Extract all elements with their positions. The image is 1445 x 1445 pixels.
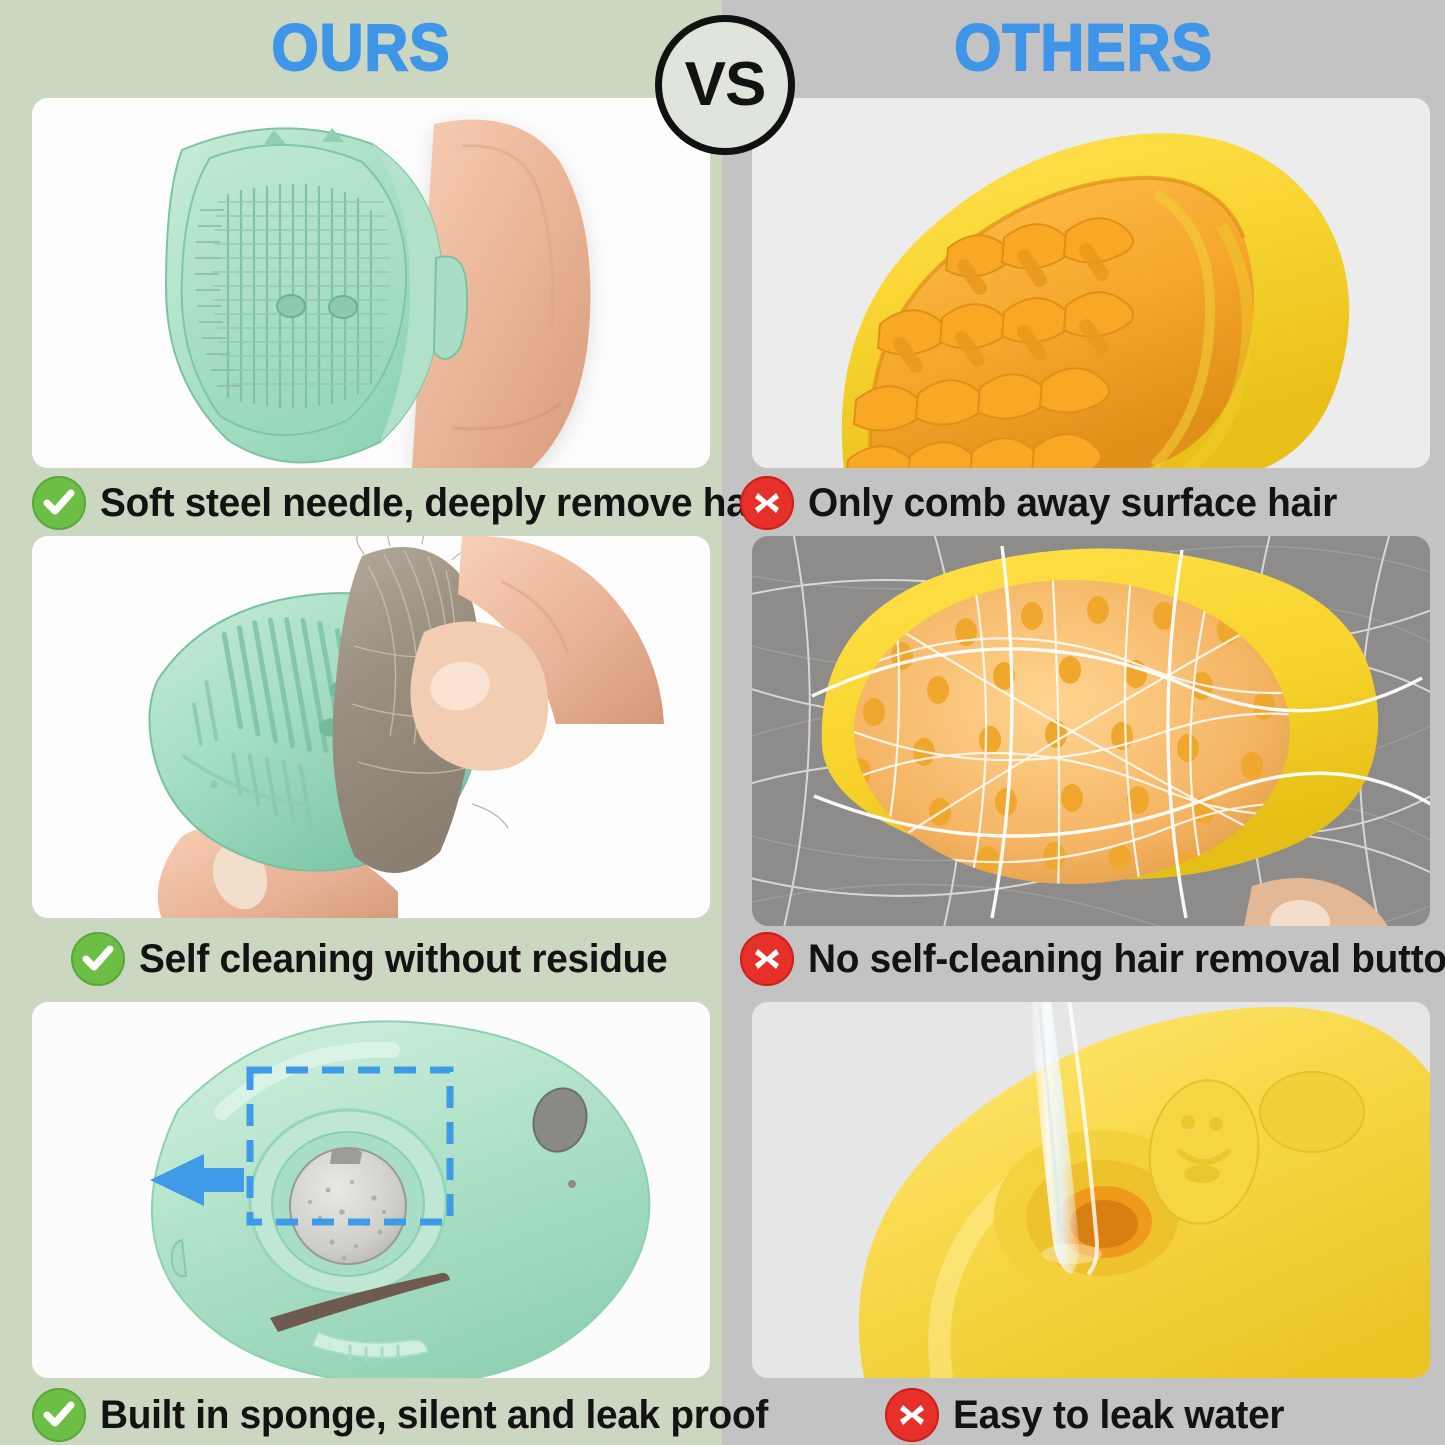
- mint-brush-needles-illustration: [32, 98, 710, 468]
- others-image-row-1: [752, 98, 1430, 468]
- others-caption-text-3: Easy to leak water: [953, 1393, 1284, 1438]
- ours-image-row-2: [32, 536, 710, 918]
- ours-image-row-3: [32, 1002, 710, 1378]
- vs-label: VS: [685, 54, 766, 116]
- ours-caption-text-2: Self cleaning without residue: [139, 937, 667, 982]
- sponge-chamber-illustration: [32, 1002, 710, 1378]
- yellow-brush-thick-bristles-illustration: [752, 98, 1430, 468]
- leaking-water-illustration: [752, 1002, 1430, 1378]
- ours-caption-row-1: Soft steel needle, deeply remove hair: [32, 474, 722, 532]
- yellow-brush-tangled-hair-illustration: [752, 536, 1430, 926]
- comparison-infographic: OURS OTHERS VS: [0, 0, 1445, 1445]
- ours-caption-text-1: Soft steel needle, deeply remove hair: [100, 481, 773, 526]
- others-caption-text-2: No self-cleaning hair removal button: [808, 937, 1445, 982]
- others-header: OTHERS: [751, 8, 1416, 86]
- others-caption-row-2: No self-cleaning hair removal button: [740, 930, 1440, 988]
- ours-caption-row-2: Self cleaning without residue: [32, 930, 722, 988]
- check-icon: [32, 1388, 86, 1442]
- self-cleaning-hair-peel-illustration: [32, 536, 710, 918]
- others-caption-row-3: Easy to leak water: [740, 1386, 1440, 1444]
- ours-header: OURS: [29, 8, 693, 86]
- check-icon: [32, 476, 86, 530]
- others-caption-text-1: Only comb away surface hair: [808, 481, 1337, 526]
- x-icon: [740, 932, 794, 986]
- others-image-row-2: [752, 536, 1430, 926]
- vs-badge: VS: [655, 15, 795, 155]
- x-icon: [885, 1388, 939, 1442]
- others-image-row-3: [752, 1002, 1430, 1378]
- ours-caption-row-3: Built in sponge, silent and leak proof: [32, 1386, 722, 1444]
- x-icon: [740, 476, 794, 530]
- others-caption-row-1: Only comb away surface hair: [740, 474, 1440, 532]
- ours-caption-text-3: Built in sponge, silent and leak proof: [100, 1393, 768, 1438]
- ours-image-row-1: [32, 98, 710, 468]
- check-icon: [71, 932, 125, 986]
